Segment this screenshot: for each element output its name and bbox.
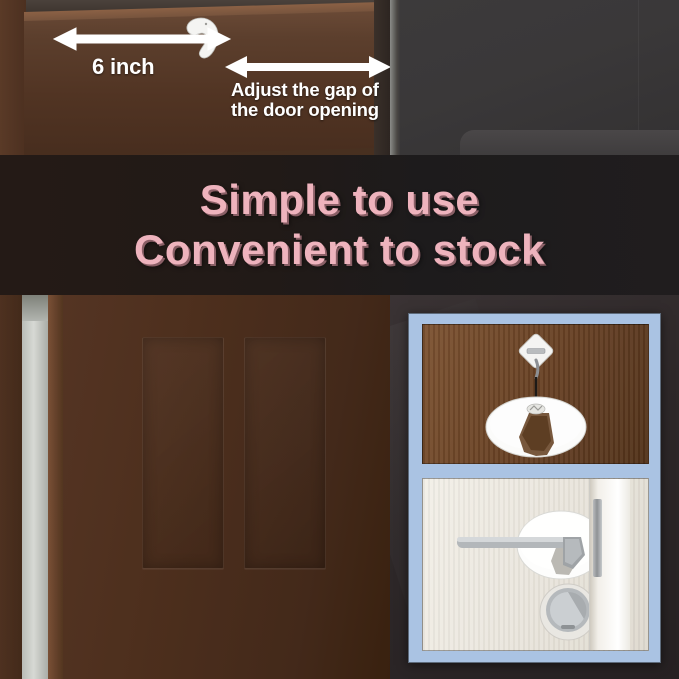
door-inset-panel-left xyxy=(142,337,224,569)
door-inset-panel-right xyxy=(244,337,326,569)
photo-white-door-lever xyxy=(422,478,649,651)
panel-product-photos xyxy=(390,295,679,679)
six-inch-dimension-arrow xyxy=(54,24,230,54)
photo-frame-blue xyxy=(408,313,661,663)
strike-plate xyxy=(593,499,602,577)
label-adjust-gap: Adjust the gap of the door opening xyxy=(231,80,390,120)
label-adjust-gap-line2: the door opening xyxy=(231,100,390,120)
panel-out-of-reach: Out of reach for kids xyxy=(0,295,390,679)
hook-and-oval-illustration xyxy=(423,325,649,464)
label-six-inch: 6 inch xyxy=(92,55,154,79)
doorframe-edge xyxy=(390,0,400,158)
headline-line-2: Convenient to stock xyxy=(134,225,545,275)
pillow-shape xyxy=(460,130,679,158)
gap-dimension-arrow xyxy=(225,52,390,82)
panel-dark-bedroom xyxy=(390,0,679,158)
door-jamb-left xyxy=(0,0,26,158)
door-gap-light-lower xyxy=(22,295,48,679)
headline-banner: Simple to use Convenient to stock xyxy=(0,155,679,295)
product-infographic-poster: 6 inch Adjust the gap of the door openin… xyxy=(0,0,679,679)
door-gap-shadow-lower xyxy=(22,295,48,321)
panel-door-top-edge: 6 inch Adjust the gap of the door openin… xyxy=(0,0,390,158)
thumbturn-knob xyxy=(540,584,596,640)
headline-line-1: Simple to use xyxy=(200,175,480,225)
label-adjust-gap-line1: Adjust the gap of xyxy=(231,80,390,100)
door-face-lower xyxy=(63,295,390,679)
door-jamb-dark xyxy=(0,295,22,679)
door-edge-strip xyxy=(48,295,63,679)
photo-wood-door-hook xyxy=(422,324,649,464)
